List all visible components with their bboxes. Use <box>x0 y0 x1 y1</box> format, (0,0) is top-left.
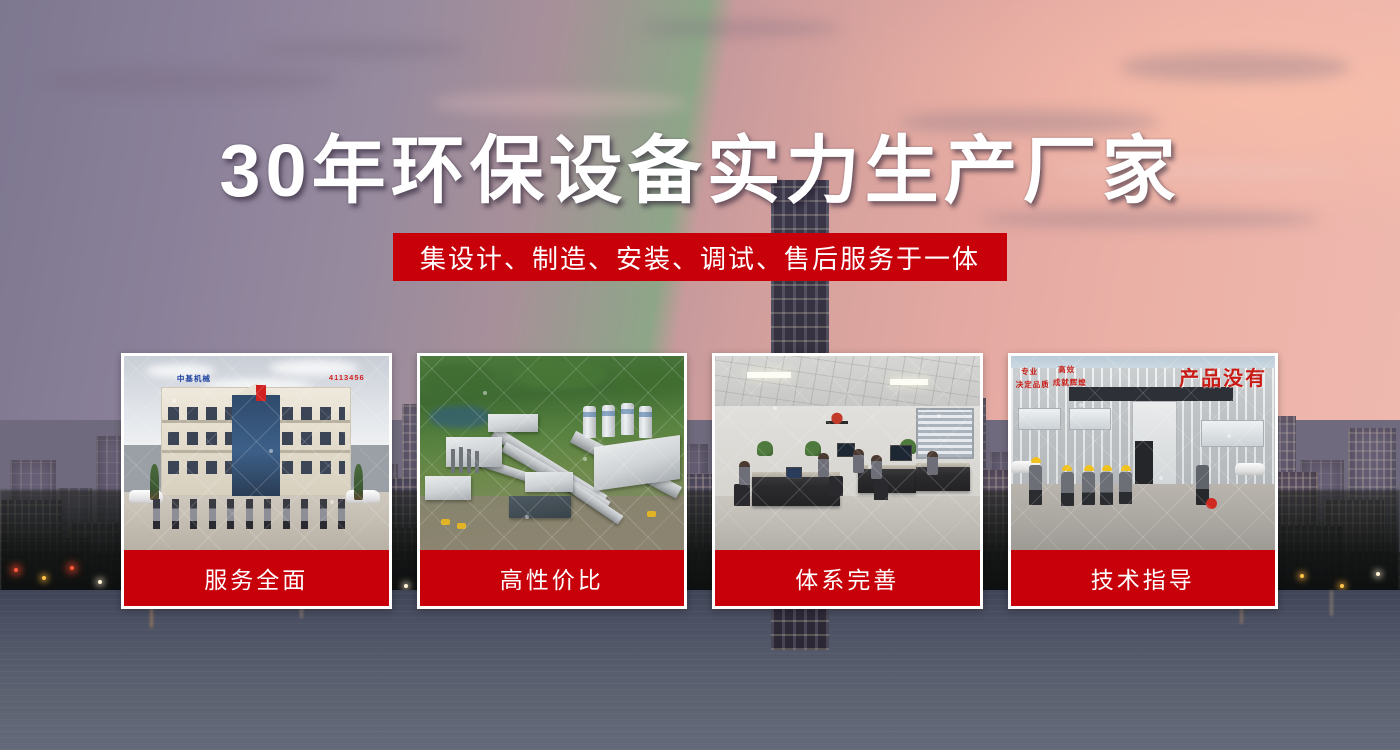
feature-card[interactable]: 高性价比 <box>417 353 688 609</box>
subtitle-ribbon: 集设计、制造、安装、调试、售后服务于一体 <box>393 233 1007 281</box>
water-shimmer <box>0 590 1400 750</box>
feature-card-label: 高性价比 <box>420 550 685 606</box>
workshop-slogan-1: 专业 <box>1021 366 1038 377</box>
cloud-shape <box>640 20 840 36</box>
feature-card-list: 中基机械 4113456 <box>121 353 1278 609</box>
feature-card[interactable]: 体系完善 <box>712 353 983 609</box>
feature-card[interactable]: 产品没有 专业 决定品质 高效 成就辉煌 <box>1008 353 1279 609</box>
cloud-shape <box>250 40 470 58</box>
feature-card-label: 技术指导 <box>1011 550 1276 606</box>
hero-banner: 30年环保设备实力生产厂家 集设计、制造、安装、调试、售后服务于一体 <box>0 0 1400 750</box>
page-title: 30年环保设备实力生产厂家 <box>0 134 1400 208</box>
office-interior-photo <box>715 356 980 550</box>
workshop-slogan-2: 决定品质 <box>1016 379 1050 390</box>
feature-card[interactable]: 中基机械 4113456 <box>121 353 392 609</box>
company-headquarters-photo: 中基机械 4113456 <box>124 356 389 550</box>
workshop-slogan-4: 成就辉煌 <box>1053 377 1087 388</box>
feature-card-label: 体系完善 <box>715 550 980 606</box>
cloud-shape <box>1120 52 1350 82</box>
workshop-slogan-large: 产品没有 <box>1179 362 1267 391</box>
aerial-plant-photo <box>420 356 685 550</box>
river-water <box>0 590 1400 750</box>
building-phone-text: 4113456 <box>329 373 365 382</box>
workshop-slogan-3: 高效 <box>1058 364 1075 375</box>
building-sign-text: 中基机械 <box>177 373 211 384</box>
cloud-shape <box>430 92 690 114</box>
subtitle-text: 集设计、制造、安装、调试、售后服务于一体 <box>420 239 980 276</box>
feature-card-label: 服务全面 <box>124 550 389 606</box>
workshop-training-photo: 产品没有 专业 决定品质 高效 成就辉煌 <box>1011 356 1276 550</box>
cloud-shape <box>40 68 340 94</box>
